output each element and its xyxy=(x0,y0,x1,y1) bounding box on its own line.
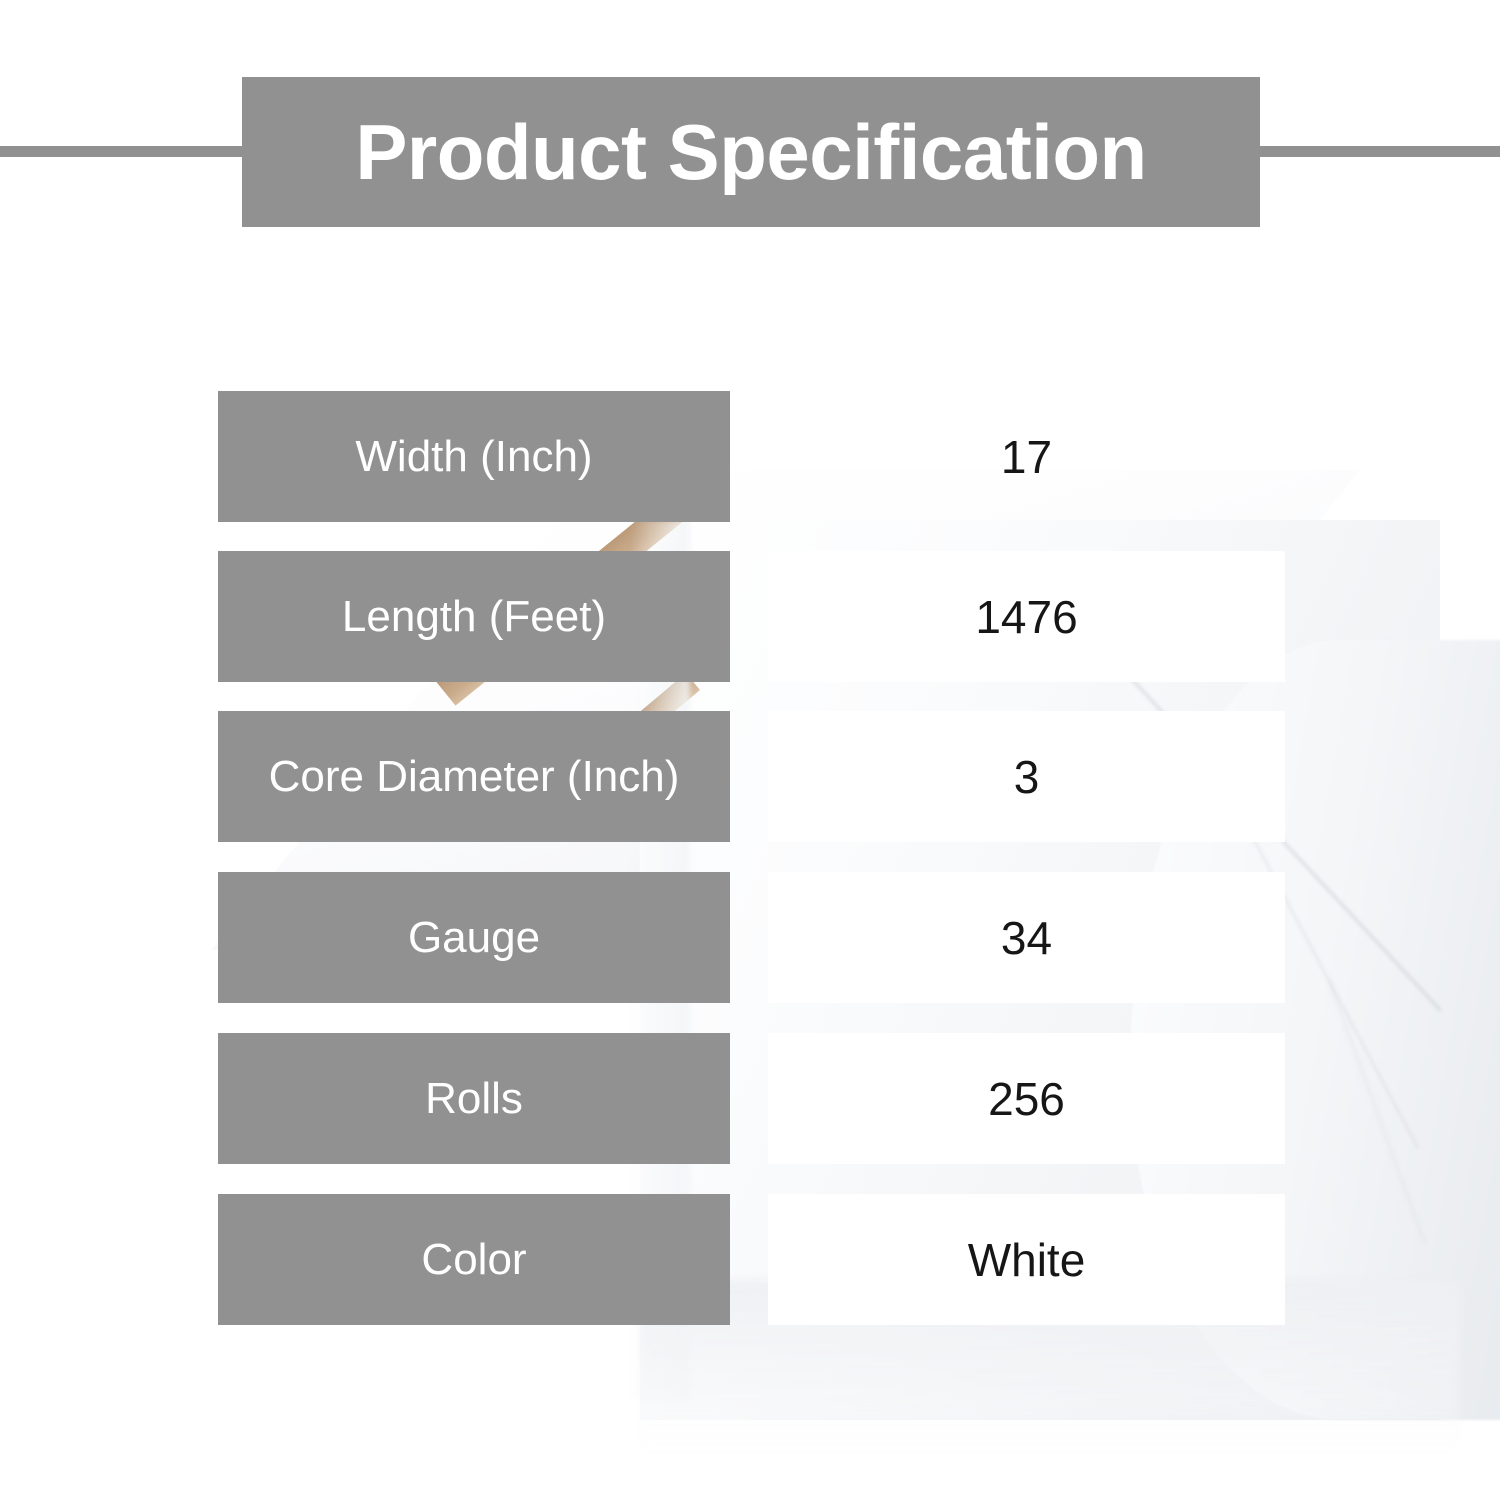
spec-label-color: Color xyxy=(218,1194,730,1325)
table-row: Color White xyxy=(0,1194,1500,1325)
table-row: Gauge 34 xyxy=(0,872,1500,1003)
table-row: Width (Inch) 17 xyxy=(0,391,1500,522)
table-row: Length (Feet) 1476 xyxy=(0,551,1500,682)
spec-label-rolls: Rolls xyxy=(218,1033,730,1164)
spec-value-gauge: 34 xyxy=(768,872,1285,1003)
spec-label-width: Width (Inch) xyxy=(218,391,730,522)
table-row: Rolls 256 xyxy=(0,1033,1500,1164)
specification-table: Width (Inch) 17 Length (Feet) 1476 Core … xyxy=(0,0,1500,1500)
spec-label-gauge: Gauge xyxy=(218,872,730,1003)
spec-value-width: 17 xyxy=(768,391,1285,522)
table-row: Core Diameter (Inch) 3 xyxy=(0,711,1500,842)
spec-label-length: Length (Feet) xyxy=(218,551,730,682)
spec-value-color: White xyxy=(768,1194,1285,1325)
spec-value-length: 1476 xyxy=(768,551,1285,682)
spec-value-core-diameter: 3 xyxy=(768,711,1285,842)
spec-value-rolls: 256 xyxy=(768,1033,1285,1164)
spec-label-core-diameter: Core Diameter (Inch) xyxy=(218,711,730,842)
